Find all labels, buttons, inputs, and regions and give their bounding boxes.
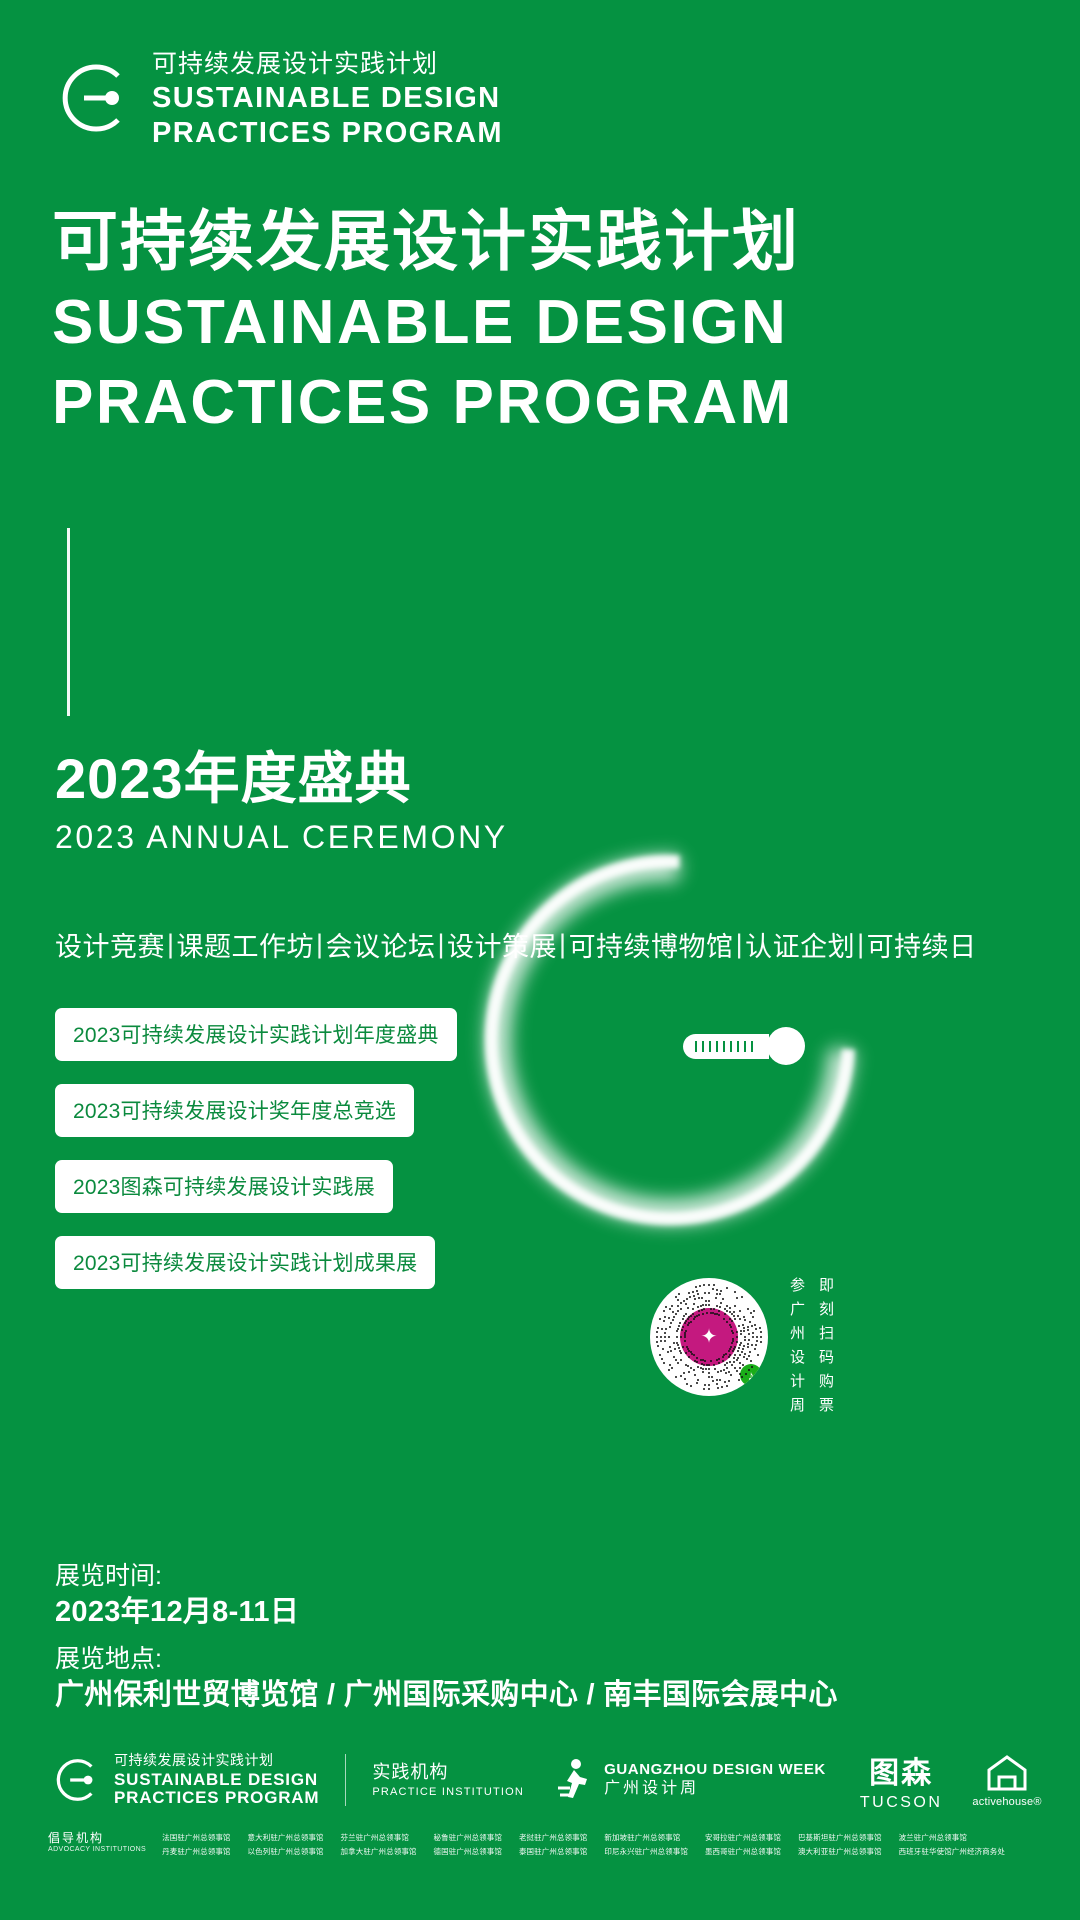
- qr-speck: [754, 1348, 756, 1350]
- qr-speck: [671, 1305, 673, 1307]
- qr-speck: [743, 1356, 745, 1358]
- qr-speck: [736, 1341, 738, 1343]
- category-separator: |: [314, 929, 326, 960]
- qr-speck: [691, 1353, 693, 1355]
- qr-speck: [656, 1341, 658, 1343]
- qr-speck: [736, 1359, 738, 1361]
- qr-caption-char: 广: [790, 1302, 805, 1317]
- brand-cn-name: 可持续发展设计实践计划: [152, 52, 503, 77]
- qr-speck: [693, 1295, 695, 1297]
- qr-speck: [660, 1340, 662, 1342]
- qr-speck: [674, 1348, 676, 1350]
- advocacy-institution: 西班牙驻华使馆广州经济商务处: [899, 1846, 1005, 1857]
- qr-speck: [754, 1324, 756, 1326]
- qr-speck: [757, 1354, 759, 1356]
- advocacy-institution: 泰国驻广州总领事馆: [519, 1846, 587, 1857]
- qr-speck: [736, 1336, 738, 1338]
- qr-speck: [737, 1357, 739, 1359]
- qr-speck: [708, 1364, 710, 1366]
- qr-speck: [692, 1308, 694, 1310]
- qr-speck: [725, 1372, 727, 1374]
- activehouse-en: activehouse®: [972, 1796, 1041, 1808]
- qr-speck: [731, 1364, 733, 1366]
- qr-speck: [736, 1297, 738, 1299]
- qr-speck: [741, 1351, 743, 1353]
- practice-institution-cn: 实践机构: [372, 1762, 524, 1783]
- qr-speck: [755, 1328, 757, 1330]
- qr-speck: [704, 1292, 706, 1294]
- category-item[interactable]: 会议论坛: [326, 925, 436, 964]
- qr-speck: [746, 1358, 748, 1360]
- qr-speck: [738, 1379, 740, 1381]
- qr-caption: 参广州设计周 即刻扫码购票: [790, 1278, 834, 1413]
- qr-speck: [750, 1312, 752, 1314]
- advocacy-column: 老挝驻广州总领事馆泰国驻广州总领事馆: [519, 1832, 587, 1857]
- advocacy-institution: 丹麦驻广州总领事馆: [162, 1846, 230, 1857]
- qr-speck: [733, 1361, 735, 1363]
- qr-speck: [708, 1384, 710, 1386]
- qr-speck: [715, 1297, 717, 1299]
- qr-speck: [738, 1325, 740, 1327]
- qr-speck: [702, 1368, 704, 1370]
- qr-speck: [730, 1326, 732, 1328]
- qr-speck: [719, 1379, 721, 1381]
- qr-speck: [701, 1297, 703, 1299]
- qr-speck: [726, 1287, 728, 1289]
- advocacy-label: 倡导机构 ADVOCACY INSTITUTIONS: [48, 1832, 146, 1854]
- qr-speck: [748, 1333, 750, 1335]
- qr-speck: [682, 1346, 684, 1348]
- advocacy-institution: 意大利驻广州总领事馆: [248, 1832, 324, 1843]
- qr-speck: [703, 1284, 705, 1286]
- qr-speck: [743, 1327, 745, 1329]
- event-time-value: 2023年12月8-11日: [55, 1593, 838, 1631]
- qr-speck: [697, 1366, 699, 1368]
- qr-caption-char: 周: [790, 1398, 805, 1413]
- advocacy-column: 秘鲁驻广州总领事馆德国驻广州总领事馆: [434, 1832, 502, 1857]
- qr-speck: [677, 1299, 679, 1301]
- slider-knob: [767, 1027, 805, 1065]
- qr-speck: [663, 1362, 665, 1364]
- qr-speck: [736, 1331, 738, 1333]
- qr-speck: [667, 1351, 669, 1353]
- qr-speck: [711, 1376, 713, 1378]
- qr-speck: [706, 1312, 708, 1314]
- qr-caption-col-right: 即刻扫码购票: [819, 1278, 834, 1413]
- advocacy-institution: 澳大利亚驻广州总领事馆: [798, 1846, 882, 1857]
- qr-speck: [680, 1375, 682, 1377]
- qr-speck: [702, 1371, 704, 1373]
- advocacy-institution: 波兰驻广州总领事馆: [899, 1832, 1005, 1843]
- category-item[interactable]: 设计竞赛: [55, 925, 165, 964]
- tucson-cn: 图森: [869, 1748, 933, 1792]
- page-title: 可持续发展设计实践计划 SUSTAINABLE DESIGN PRACTICES…: [52, 205, 800, 439]
- qr-speck: [740, 1342, 742, 1344]
- category-item[interactable]: 设计策展: [447, 925, 557, 964]
- advocacy-institution: 芬兰驻广州总领事馆: [341, 1832, 417, 1843]
- qr-speck: [708, 1388, 710, 1390]
- qr-speck: [669, 1326, 671, 1328]
- qr-speck: [683, 1315, 685, 1317]
- qr-speck: [720, 1290, 722, 1292]
- qr-speck: [686, 1383, 688, 1385]
- qr-speck: [744, 1319, 746, 1321]
- qr-speck: [664, 1340, 666, 1342]
- qr-speck: [682, 1318, 684, 1320]
- qr-speck: [724, 1381, 726, 1383]
- qr-speck: [717, 1387, 719, 1389]
- year-heading-en: 2023 ANNUAL CEREMONY: [55, 819, 508, 856]
- qr-speck: [738, 1347, 740, 1349]
- qr-caption-col-left: 参广州设计周: [790, 1278, 805, 1413]
- qr-speck: [729, 1361, 731, 1363]
- qr-speck: [665, 1306, 667, 1308]
- qr-disc[interactable]: ✦ ♪: [650, 1278, 768, 1396]
- qr-speck: [744, 1336, 746, 1338]
- footer-brand-cn: 可持续发展设计实践计划: [114, 1753, 319, 1768]
- qr-speck: [759, 1327, 761, 1329]
- qr-speck: [737, 1350, 739, 1352]
- qr-speck: [680, 1302, 682, 1304]
- qr-speck: [698, 1297, 700, 1299]
- ruler-tick: [730, 1041, 732, 1052]
- qr-speck: [708, 1368, 710, 1370]
- qr-speck: [692, 1313, 694, 1315]
- qr-speck: [672, 1319, 674, 1321]
- ruler-tick: [695, 1041, 697, 1052]
- qr-speck: [753, 1310, 755, 1312]
- qr-speck: [732, 1332, 734, 1334]
- qr-speck: [657, 1345, 659, 1347]
- event-pill-list: 2023可持续发展设计实践计划年度盛典2023可持续发展设计奖年度总竞选2023…: [55, 1008, 457, 1312]
- qr-speck: [669, 1364, 671, 1366]
- qr-speck: [728, 1380, 730, 1382]
- qr-speck: [719, 1306, 721, 1308]
- category-item[interactable]: 可持续博物馆: [569, 925, 734, 964]
- advocacy-institution: 加拿大驻广州总领事馆: [341, 1846, 417, 1857]
- qr-speck: [756, 1340, 758, 1342]
- qr-speck: [702, 1359, 704, 1361]
- qr-speck: [745, 1373, 747, 1375]
- year-heading: 2023年度盛典 2023 ANNUAL CEREMONY: [55, 750, 508, 856]
- qr-speck: [717, 1371, 719, 1373]
- qr-speck: [742, 1348, 744, 1350]
- qr-speck: [726, 1305, 728, 1307]
- qr-speck: [695, 1286, 697, 1288]
- activehouse-logo: activehouse®: [972, 1753, 1041, 1808]
- qr-speck: [688, 1292, 690, 1294]
- event-details: 展览时间: 2023年12月8-11日 展览地点: 广州保利世贸博览馆 / 广州…: [55, 1560, 838, 1715]
- qr-speck: [744, 1339, 746, 1341]
- qr-speck: [660, 1336, 662, 1338]
- qr-speck: [743, 1345, 745, 1347]
- qr-speck: [716, 1305, 718, 1307]
- ruler-tick: [751, 1041, 753, 1052]
- qr-speck: [669, 1346, 671, 1348]
- qr-speck: [722, 1298, 724, 1300]
- qr-speck: [659, 1318, 661, 1320]
- qr-speck: [724, 1364, 726, 1366]
- qr-speck: [712, 1288, 714, 1290]
- qr-speck: [661, 1358, 663, 1360]
- qr-speck: [671, 1367, 673, 1369]
- footer: 可持续发展设计实践计划 SUSTAINABLE DESIGN PRACTICES…: [0, 1740, 1080, 1920]
- qr-speck: [712, 1380, 714, 1382]
- qr-speck: [747, 1329, 749, 1331]
- qr-speck: [710, 1360, 712, 1362]
- qr-speck: [670, 1322, 672, 1324]
- qr-speck: [697, 1379, 699, 1381]
- qr-speck: [729, 1307, 731, 1309]
- qr-speck: [748, 1355, 750, 1357]
- qr-speck: [672, 1311, 674, 1313]
- category-separator: |: [557, 929, 569, 960]
- qr-speck: [755, 1344, 757, 1346]
- qr-speck: [680, 1308, 682, 1310]
- qr-speck: [693, 1369, 695, 1371]
- qr-speck: [690, 1367, 692, 1369]
- qr-speck: [708, 1304, 710, 1306]
- qr-speck: [704, 1360, 706, 1362]
- qr-speck: [713, 1364, 715, 1366]
- qr-speck: [675, 1359, 677, 1361]
- qr-speck: [749, 1321, 751, 1323]
- qr-speck: [696, 1290, 698, 1292]
- house-outline-icon: [985, 1753, 1029, 1793]
- qr-speck: [668, 1317, 670, 1319]
- event-pill[interactable]: 2023图森可持续发展设计实践展: [55, 1160, 393, 1213]
- qr-caption-char: 参: [790, 1278, 805, 1293]
- event-pill[interactable]: 2023可持续发展设计实践计划年度盛典: [55, 1008, 457, 1061]
- footer-program-logo: 可持续发展设计实践计划 SUSTAINABLE DESIGN PRACTICES…: [48, 1753, 319, 1807]
- qr-speck: [716, 1383, 718, 1385]
- slider-knob-with-ruler-ticks: [683, 1027, 805, 1065]
- qr-speck: [680, 1352, 682, 1354]
- qr-speck: [685, 1313, 687, 1315]
- qr-speck: [760, 1341, 762, 1343]
- qr-speck: [760, 1331, 762, 1333]
- category-separator: |: [436, 929, 448, 960]
- qr-speck: [741, 1296, 743, 1298]
- qr-speck: [708, 1300, 710, 1302]
- qr-speck: [728, 1350, 730, 1352]
- qr-speck: [734, 1318, 736, 1320]
- guangzhou-design-week-logo: GUANGZHOU DESIGN WEEK 广州设计周: [554, 1757, 826, 1803]
- qr-speck: [705, 1300, 707, 1302]
- qr-speck: [668, 1369, 670, 1371]
- glowing-c-ring: [455, 845, 885, 1245]
- qr-speck: [700, 1359, 702, 1361]
- qr-speck: [693, 1303, 695, 1305]
- footer-divider-1: [345, 1754, 346, 1806]
- qr-speck: [677, 1310, 679, 1312]
- qr-speck: [677, 1344, 679, 1346]
- event-pill[interactable]: 2023可持续发展设计实践计划成果展: [55, 1236, 435, 1289]
- qr-speck: [692, 1291, 694, 1293]
- qr-speck: [744, 1353, 746, 1355]
- qr-speck: [716, 1289, 718, 1291]
- qr-speck: [694, 1374, 696, 1376]
- qr-speck: [663, 1320, 665, 1322]
- ruler-tick: [723, 1041, 725, 1052]
- qr-caption-char: 设: [790, 1350, 805, 1365]
- advocacy-institution: 安哥拉驻广州总领事馆: [705, 1832, 781, 1843]
- advocacy-column: 安哥拉驻广州总领事馆墨西哥驻广州总领事馆: [705, 1832, 781, 1857]
- advocacy-institution: 老挝驻广州总领事馆: [519, 1832, 587, 1843]
- advocacy-column: 新加坡驻广州总领事馆印尼永兴驻广州总领事馆: [604, 1832, 688, 1857]
- qr-speck: [656, 1336, 658, 1338]
- advocacy-column: 巴基斯坦驻广州总领事馆澳大利亚驻广州总领事馆: [798, 1832, 882, 1857]
- qr-speck: [739, 1310, 741, 1312]
- qr-speck: [676, 1330, 678, 1332]
- category-item[interactable]: 可持续日: [867, 925, 977, 964]
- ruler-tick: [744, 1041, 746, 1052]
- qr-speck: [673, 1316, 675, 1318]
- qr-speck: [722, 1356, 724, 1358]
- practice-institution-label: 实践机构 PRACTICE INSTITUTION: [372, 1762, 524, 1798]
- qr-speck: [721, 1386, 723, 1388]
- qr-caption-char: 购: [819, 1374, 834, 1389]
- qr-speck: [685, 1330, 687, 1332]
- category-item[interactable]: 认证企划: [745, 925, 855, 964]
- advocacy-columns: 法国驻广州总领事馆丹麦驻广州总领事馆意大利驻广州总领事馆以色列驻广州总领事馆芬兰…: [162, 1832, 1056, 1857]
- advocacy-column: 法国驻广州总领事馆丹麦驻广州总领事馆: [162, 1832, 230, 1857]
- qr-speck: [669, 1308, 671, 1310]
- qr-speck: [697, 1306, 699, 1308]
- qr-speck: [684, 1378, 686, 1380]
- qr-speck: [684, 1334, 686, 1336]
- glow-ring-inner: [409, 779, 932, 1302]
- qr-speck: [703, 1364, 705, 1366]
- qr-speck: [684, 1322, 686, 1324]
- advocacy-column: 芬兰驻广州总领事馆加拿大驻广州总领事馆: [341, 1832, 417, 1857]
- qr-speck: [702, 1304, 704, 1306]
- advocacy-label-cn: 倡导机构: [48, 1832, 146, 1846]
- qr-speck: [731, 1320, 733, 1322]
- qr-caption-char: 计: [790, 1374, 805, 1389]
- qr-speck: [751, 1344, 753, 1346]
- qr-speck: [683, 1300, 685, 1302]
- qr-speck: [670, 1350, 672, 1352]
- partner-row: 可持续发展设计实践计划 SUSTAINABLE DESIGN PRACTICES…: [48, 1748, 1048, 1812]
- qr-speck: [662, 1348, 664, 1350]
- qr-speck: [713, 1284, 715, 1286]
- qr-speck: [680, 1359, 682, 1361]
- qr-speck: [687, 1307, 689, 1309]
- qr-speck: [690, 1385, 692, 1387]
- qr-speck: [702, 1313, 704, 1315]
- qr-speck: [720, 1370, 722, 1372]
- advocacy-label-en: ADVOCACY INSTITUTIONS: [48, 1846, 146, 1854]
- category-item[interactable]: 课题工作坊: [177, 925, 315, 964]
- category-strip: 设计竞赛|课题工作坊|会议论坛|设计策展|可持续博物馆|认证企划|可持续日: [55, 925, 977, 964]
- qr-caption-char: 码: [819, 1350, 834, 1365]
- qr-speck: [685, 1320, 687, 1322]
- advocacy-institution: 巴基斯坦驻广州总领事馆: [798, 1832, 882, 1843]
- event-pill[interactable]: 2023可持续发展设计奖年度总竞选: [55, 1084, 414, 1137]
- qr-speck: [708, 1292, 710, 1294]
- qr-speck: [747, 1326, 749, 1328]
- qr-speck: [749, 1351, 751, 1353]
- qr-speck: [700, 1367, 702, 1369]
- qr-speck: [690, 1321, 692, 1323]
- gdw-cn: 广州设计周: [604, 1780, 826, 1798]
- qr-speck: [699, 1285, 701, 1287]
- qr-speck: [734, 1291, 736, 1293]
- qr-caption-char: 刻: [819, 1302, 834, 1317]
- qr-code[interactable]: ✦ ♪: [650, 1278, 768, 1396]
- qr-speck: [714, 1368, 716, 1370]
- advocacy-institution: 法国驻广州总领事馆: [162, 1832, 230, 1843]
- qr-speck: [720, 1302, 722, 1304]
- qr-speck: [728, 1371, 730, 1373]
- gdw-en: GUANGZHOU DESIGN WEEK: [604, 1761, 826, 1778]
- qr-speck: [742, 1324, 744, 1326]
- qr-speck: [677, 1305, 679, 1307]
- qr-speck: [740, 1330, 742, 1332]
- advocacy-institutions: 倡导机构 ADVOCACY INSTITUTIONS 法国驻广州总领事馆丹麦驻广…: [48, 1832, 1056, 1857]
- qr-speck: [680, 1336, 682, 1338]
- qr-speck: [739, 1354, 741, 1356]
- advocacy-column: 意大利驻广州总领事馆以色列驻广州总领事馆: [248, 1832, 324, 1857]
- qr-speck: [661, 1328, 663, 1330]
- qr-speck: [677, 1328, 679, 1330]
- brand-en-line2: PRACTICES PROGRAM: [152, 119, 503, 148]
- qr-speck: [664, 1332, 666, 1334]
- advocacy-column: 波兰驻广州总领事馆西班牙驻华使馆广州经济商务处: [899, 1832, 1005, 1857]
- qr-speck: [664, 1336, 666, 1338]
- qr-caption-char: 州: [790, 1326, 805, 1341]
- tucson-en: TUCSON: [860, 1794, 943, 1812]
- advocacy-institution: 新加坡驻广州总领事馆: [604, 1832, 688, 1843]
- qr-speck: [728, 1356, 730, 1358]
- qr-speck: [677, 1362, 679, 1364]
- qr-speck: [705, 1368, 707, 1370]
- qr-speck: [752, 1336, 754, 1338]
- qr-speck: [726, 1362, 728, 1364]
- qr-speck: [730, 1374, 732, 1376]
- qr-speck: [678, 1347, 680, 1349]
- qr-speck: [716, 1379, 718, 1381]
- category-separator: |: [855, 929, 867, 960]
- qr-speck: [748, 1339, 750, 1341]
- qr-speck: [673, 1356, 675, 1358]
- ruler-tick: [716, 1041, 718, 1052]
- qr-speck: [703, 1388, 705, 1390]
- qr-speck: [739, 1344, 741, 1346]
- qr-speck: [708, 1372, 710, 1374]
- category-separator: |: [734, 929, 746, 960]
- qr-speck: [663, 1310, 665, 1312]
- qr-speck: [697, 1293, 699, 1295]
- qr-speck: [718, 1310, 720, 1312]
- qr-speck: [686, 1298, 688, 1300]
- category-separator: |: [165, 929, 177, 960]
- brand-lockup-top: 可持续发展设计实践计划 SUSTAINABLE DESIGN PRACTICES…: [48, 52, 503, 148]
- qr-speck: [743, 1316, 745, 1318]
- qr-speck: [683, 1372, 685, 1374]
- qr-speck: [750, 1360, 752, 1362]
- qr-speck: [678, 1325, 680, 1327]
- qr-speck: [696, 1357, 698, 1359]
- event-place-value: 广州保利世贸博览馆 / 广州国际采购中心 / 南丰国际会展中心: [55, 1676, 838, 1714]
- qr-speck: [676, 1336, 678, 1338]
- qr-speck: [696, 1382, 698, 1384]
- qr-speck: [716, 1359, 718, 1361]
- qr-speck: [673, 1342, 675, 1344]
- qr-speck: [694, 1298, 696, 1300]
- qr-speck: [740, 1333, 742, 1335]
